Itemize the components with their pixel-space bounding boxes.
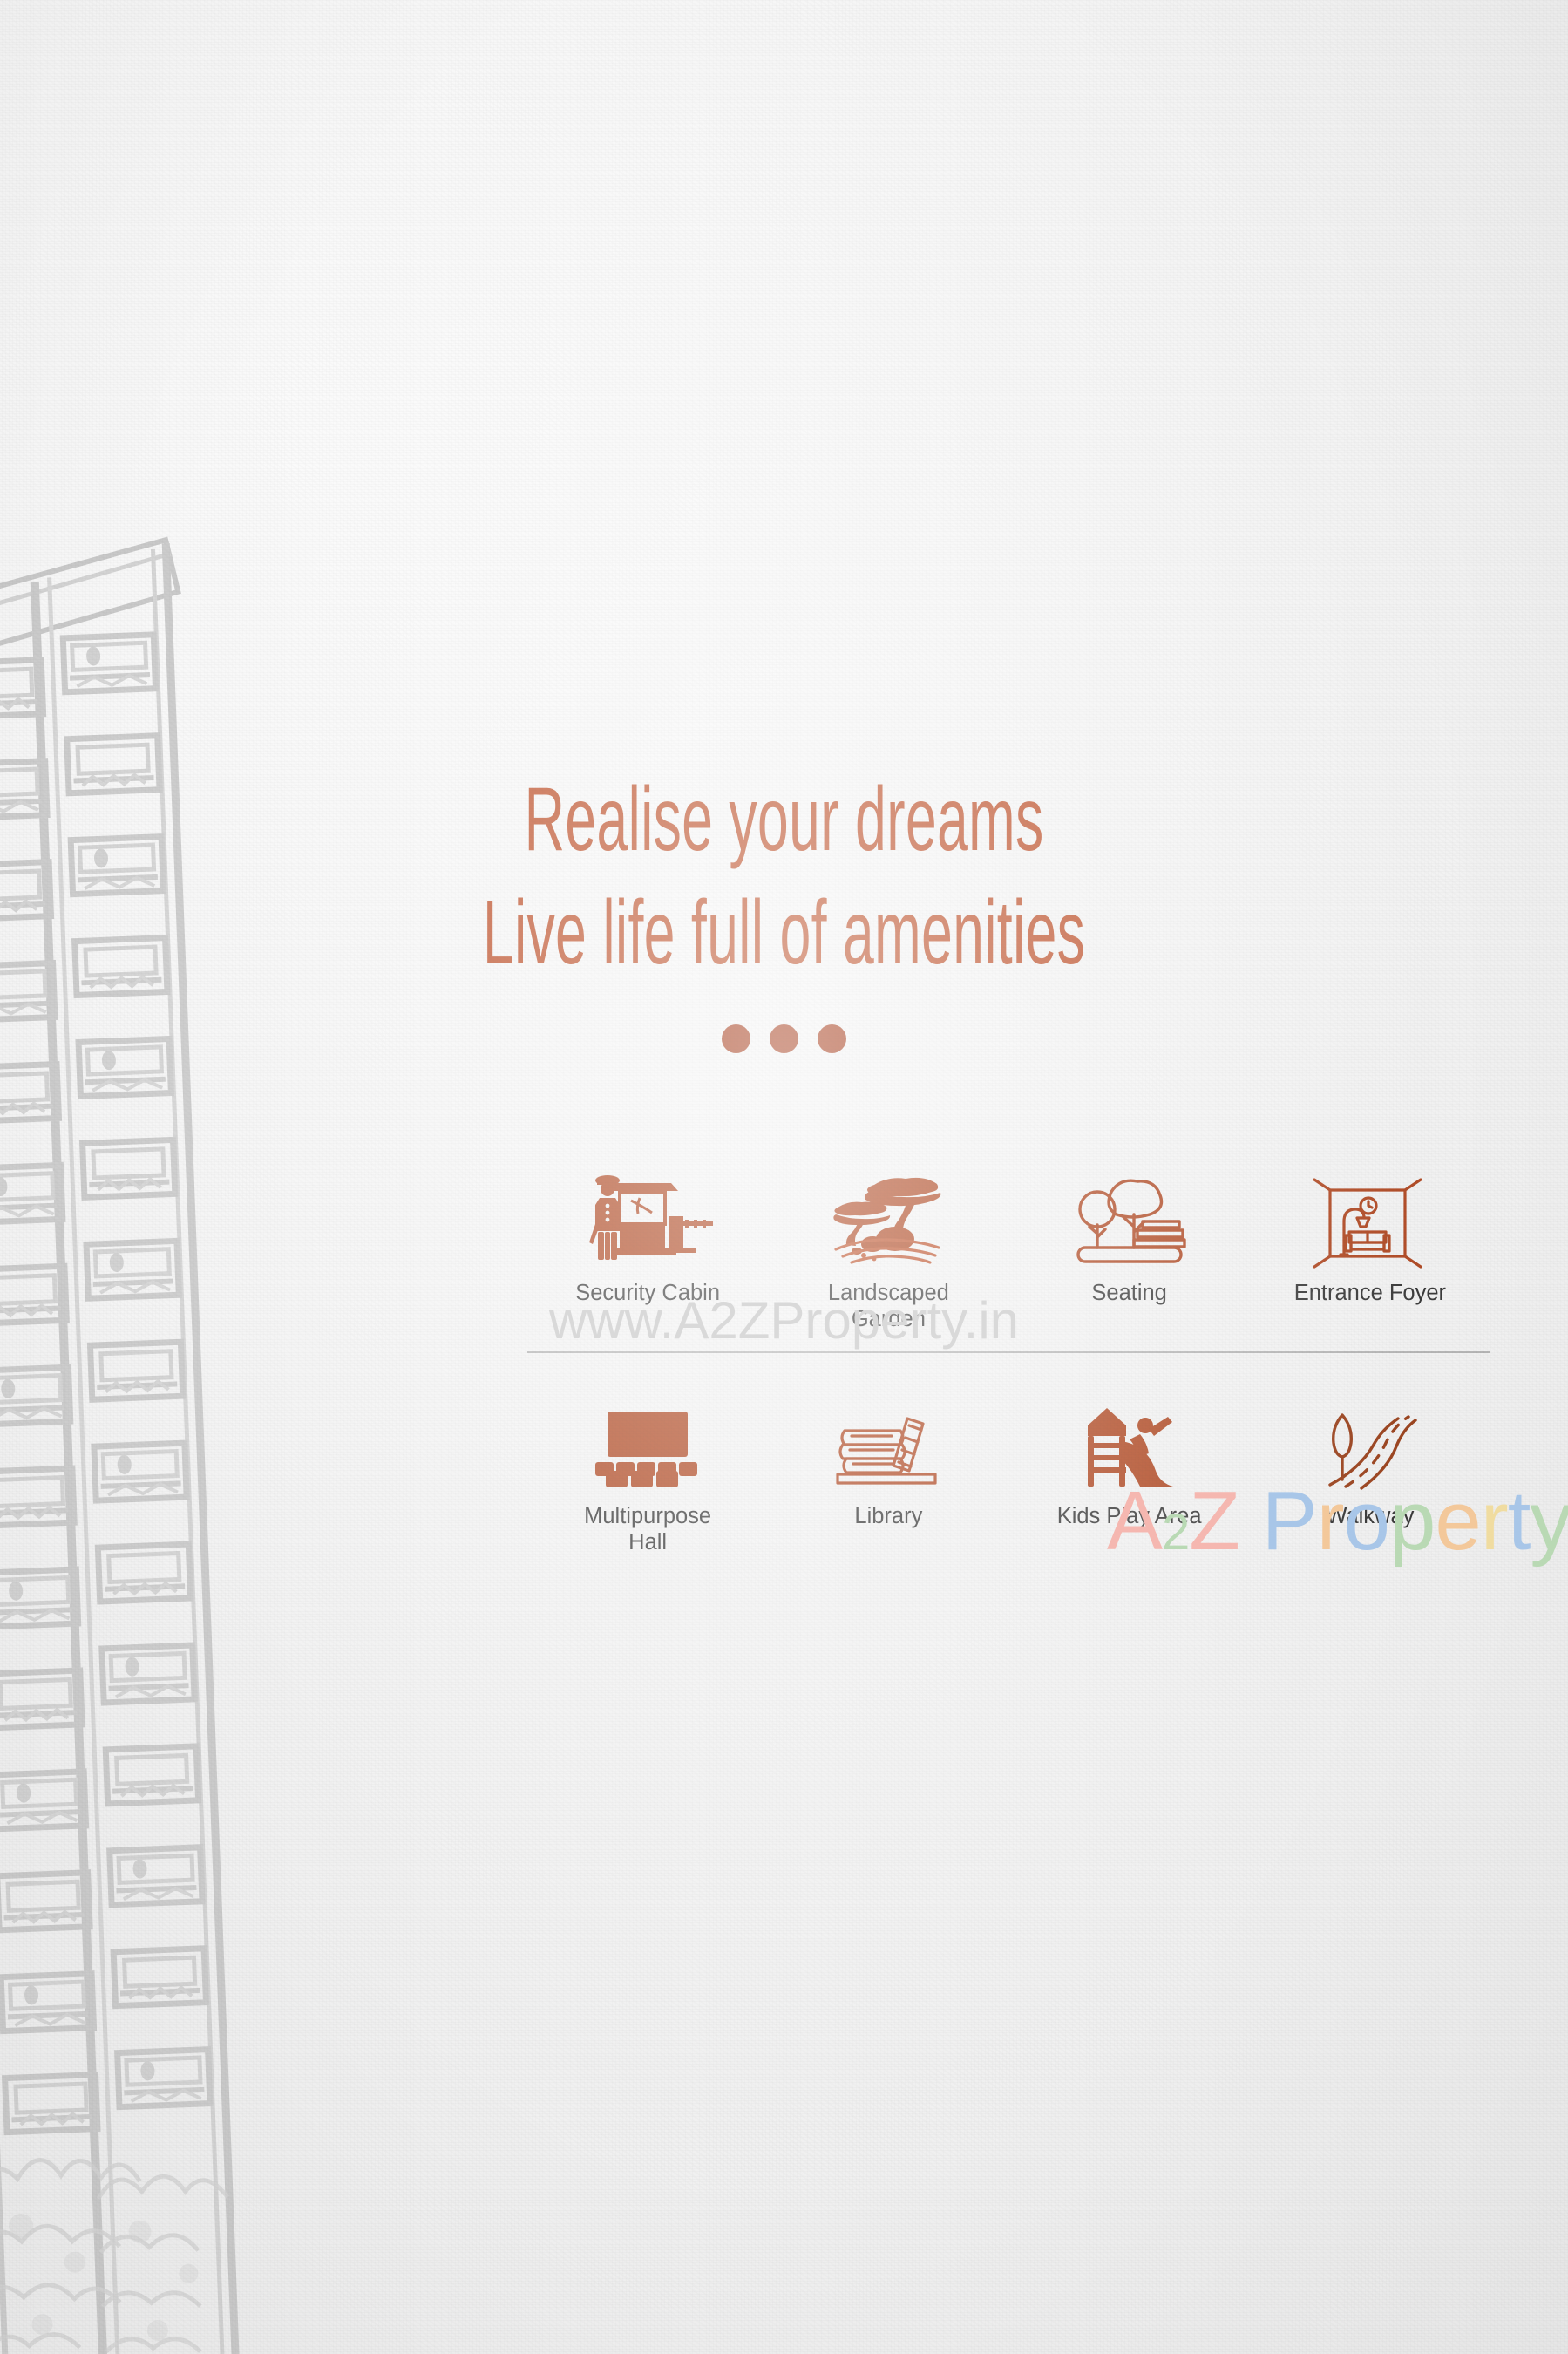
amenities-row: Security Cabin — [527, 1160, 1490, 1332]
dot-icon — [770, 1024, 798, 1053]
dot-icon — [818, 1024, 846, 1053]
brand-logo-letter: y — [1530, 1473, 1568, 1569]
amenities-row: Multipurpose Hall — [527, 1383, 1490, 1555]
kids-play-area-icon — [1072, 1383, 1187, 1492]
decorative-dots — [0, 1024, 1568, 1053]
amenity-label: Entrance Foyer — [1294, 1280, 1446, 1306]
amenities-grid: Security Cabin — [527, 1160, 1490, 1555]
amenity-label: Kids Play Area — [1057, 1503, 1202, 1529]
page-surface: Realise your dreams Live life full of am… — [0, 0, 1568, 2354]
seating-icon — [1071, 1160, 1188, 1269]
amenity-entrance-foyer[interactable]: Entrance Foyer — [1250, 1160, 1490, 1306]
page-title-line-2: Live life full of amenities — [298, 888, 1270, 978]
amenity-label: Security Cabin — [575, 1280, 720, 1306]
amenity-label: Walkway — [1326, 1503, 1414, 1529]
page-title-line-1: Realise your dreams — [298, 774, 1270, 865]
amenity-library[interactable]: Library — [768, 1383, 1008, 1529]
amenity-security-cabin[interactable]: Security Cabin — [527, 1160, 768, 1306]
amenity-label: Seating — [1091, 1280, 1167, 1306]
amenity-label: Multipurpose Hall — [584, 1503, 711, 1555]
amenity-multipurpose-hall[interactable]: Multipurpose Hall — [527, 1383, 768, 1555]
amenity-seating[interactable]: Seating — [1009, 1160, 1250, 1306]
amenity-label: Landscaped Garden — [828, 1280, 949, 1332]
multipurpose-hall-icon — [592, 1383, 703, 1492]
amenity-kids-play-area[interactable]: Kids Play Area — [1009, 1383, 1250, 1529]
section-divider — [527, 1351, 1490, 1353]
amenity-label: Library — [854, 1503, 922, 1529]
brand-logo-letter: t — [1508, 1473, 1531, 1569]
library-icon — [832, 1383, 944, 1492]
entrance-foyer-icon — [1311, 1160, 1429, 1269]
security-cabin-icon — [579, 1160, 716, 1269]
amenity-landscaped-garden[interactable]: Landscaped Garden — [768, 1160, 1008, 1332]
walkway-icon — [1316, 1383, 1424, 1492]
dot-icon — [722, 1024, 750, 1053]
amenity-walkway[interactable]: Walkway — [1250, 1383, 1490, 1529]
landscaped-garden-icon — [824, 1160, 953, 1269]
